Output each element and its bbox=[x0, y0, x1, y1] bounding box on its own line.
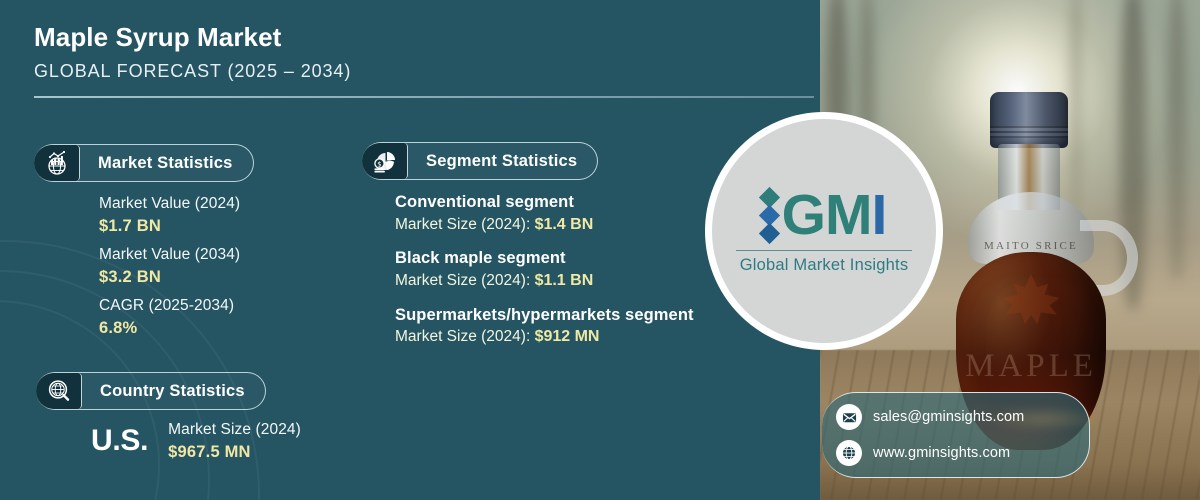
segment-statistics-rows: Conventional segment Market Size (2024):… bbox=[395, 192, 694, 348]
gmi-letters: GMI bbox=[782, 187, 887, 244]
country-statistics-row: U.S. Market Size (2024) $967.5 MN bbox=[91, 420, 301, 463]
stat-row: Market Value (2024) $1.7 BN bbox=[99, 194, 254, 237]
market-statistics-rows: Market Value (2024) $1.7 BN Market Value… bbox=[99, 194, 254, 340]
globe-icon bbox=[836, 440, 862, 466]
bottle-label-text: MAPLE bbox=[956, 348, 1106, 385]
segment-metric: Market Size (2024): $1.1 BN bbox=[395, 271, 694, 292]
market-statistics-section: Market Statistics Market Value (2024) $1… bbox=[34, 144, 254, 340]
tree-trunk bbox=[1168, 0, 1186, 280]
segment-metric-value: $1.4 BN bbox=[535, 216, 594, 233]
segment-metric-value: $1.1 BN bbox=[535, 272, 594, 289]
contact-panel: sales@gminsights.com www.gminsights.com bbox=[822, 392, 1090, 478]
segment-block: Supermarkets/hypermarkets segment Market… bbox=[395, 305, 694, 348]
contact-email-row[interactable]: sales@gminsights.com bbox=[836, 404, 1075, 430]
country-statistics-header: Country Statistics bbox=[36, 372, 266, 410]
bottle-cap bbox=[990, 92, 1068, 148]
gmi-letter-g: G bbox=[782, 183, 825, 247]
globe-chart-icon bbox=[34, 145, 80, 181]
gmi-letter-i: I bbox=[871, 183, 886, 247]
globe-magnifier-icon bbox=[36, 373, 82, 409]
infographic-root: Maple Syrup Market GLOBAL FORECAST (2025… bbox=[0, 0, 1200, 500]
segment-statistics-section: $ Segment Statistics Conventional segmen… bbox=[362, 142, 694, 348]
segment-statistics-label: Segment Statistics bbox=[408, 152, 577, 171]
country-metric-value: $967.5 MN bbox=[168, 441, 301, 463]
stat-value: 6.8% bbox=[99, 317, 254, 339]
stat-row: CAGR (2025-2034) 6.8% bbox=[99, 296, 254, 339]
segment-statistics-header: $ Segment Statistics bbox=[362, 142, 598, 180]
pie-chart-coin-icon: $ bbox=[362, 143, 408, 179]
gmi-logo-mark: GMI bbox=[762, 187, 887, 244]
segment-block: Conventional segment Market Size (2024):… bbox=[395, 192, 694, 235]
country-statistics-section: Country Statistics U.S. Market Size (202… bbox=[36, 372, 301, 463]
maple-leaf-icon bbox=[1000, 274, 1062, 334]
country-statistics-label: Country Statistics bbox=[82, 382, 245, 401]
diamond-icon bbox=[759, 223, 780, 244]
country-figures: Market Size (2024) $967.5 MN bbox=[168, 420, 301, 463]
segment-metric-label: Market Size (2024): bbox=[395, 216, 535, 233]
gmi-letter-m: M bbox=[825, 183, 871, 247]
svg-text:$: $ bbox=[377, 160, 381, 168]
stat-value: $1.7 BN bbox=[99, 215, 254, 237]
gmi-logo: GMI Global Market Insights bbox=[705, 112, 943, 350]
segment-metric-value: $912 MN bbox=[535, 328, 600, 345]
country-metric-label: Market Size (2024) bbox=[168, 420, 301, 441]
contact-email[interactable]: sales@gminsights.com bbox=[873, 409, 1024, 425]
stat-label: CAGR (2025-2034) bbox=[99, 296, 254, 317]
segment-block: Black maple segment Market Size (2024): … bbox=[395, 248, 694, 291]
logo-divider bbox=[736, 250, 912, 252]
header-divider bbox=[34, 96, 814, 98]
segment-title: Supermarkets/hypermarkets segment bbox=[395, 305, 694, 326]
stat-row: Market Value (2034) $3.2 BN bbox=[99, 245, 254, 288]
country-code: U.S. bbox=[91, 420, 148, 456]
diamond-cluster-icon bbox=[762, 188, 777, 242]
page-title: Maple Syrup Market bbox=[34, 22, 790, 53]
bottle-emboss-text: MAITO SRICE bbox=[972, 240, 1090, 252]
segment-title: Conventional segment bbox=[395, 192, 694, 213]
stat-value: $3.2 BN bbox=[99, 266, 254, 288]
envelope-icon bbox=[836, 404, 862, 430]
market-statistics-label: Market Statistics bbox=[80, 154, 233, 173]
segment-metric: Market Size (2024): $1.4 BN bbox=[395, 215, 694, 236]
logo-tagline: Global Market Insights bbox=[740, 256, 909, 275]
segment-metric-label: Market Size (2024): bbox=[395, 328, 535, 345]
market-statistics-header: Market Statistics bbox=[34, 144, 254, 182]
stat-label: Market Value (2034) bbox=[99, 245, 254, 266]
contact-website-row[interactable]: www.gminsights.com bbox=[836, 440, 1075, 466]
page-subtitle: GLOBAL FORECAST (2025 – 2034) bbox=[34, 61, 790, 82]
segment-title: Black maple segment bbox=[395, 248, 694, 269]
segment-metric-label: Market Size (2024): bbox=[395, 272, 535, 289]
segment-metric: Market Size (2024): $912 MN bbox=[395, 327, 694, 348]
stat-label: Market Value (2024) bbox=[99, 194, 254, 215]
contact-website[interactable]: www.gminsights.com bbox=[873, 445, 1010, 461]
